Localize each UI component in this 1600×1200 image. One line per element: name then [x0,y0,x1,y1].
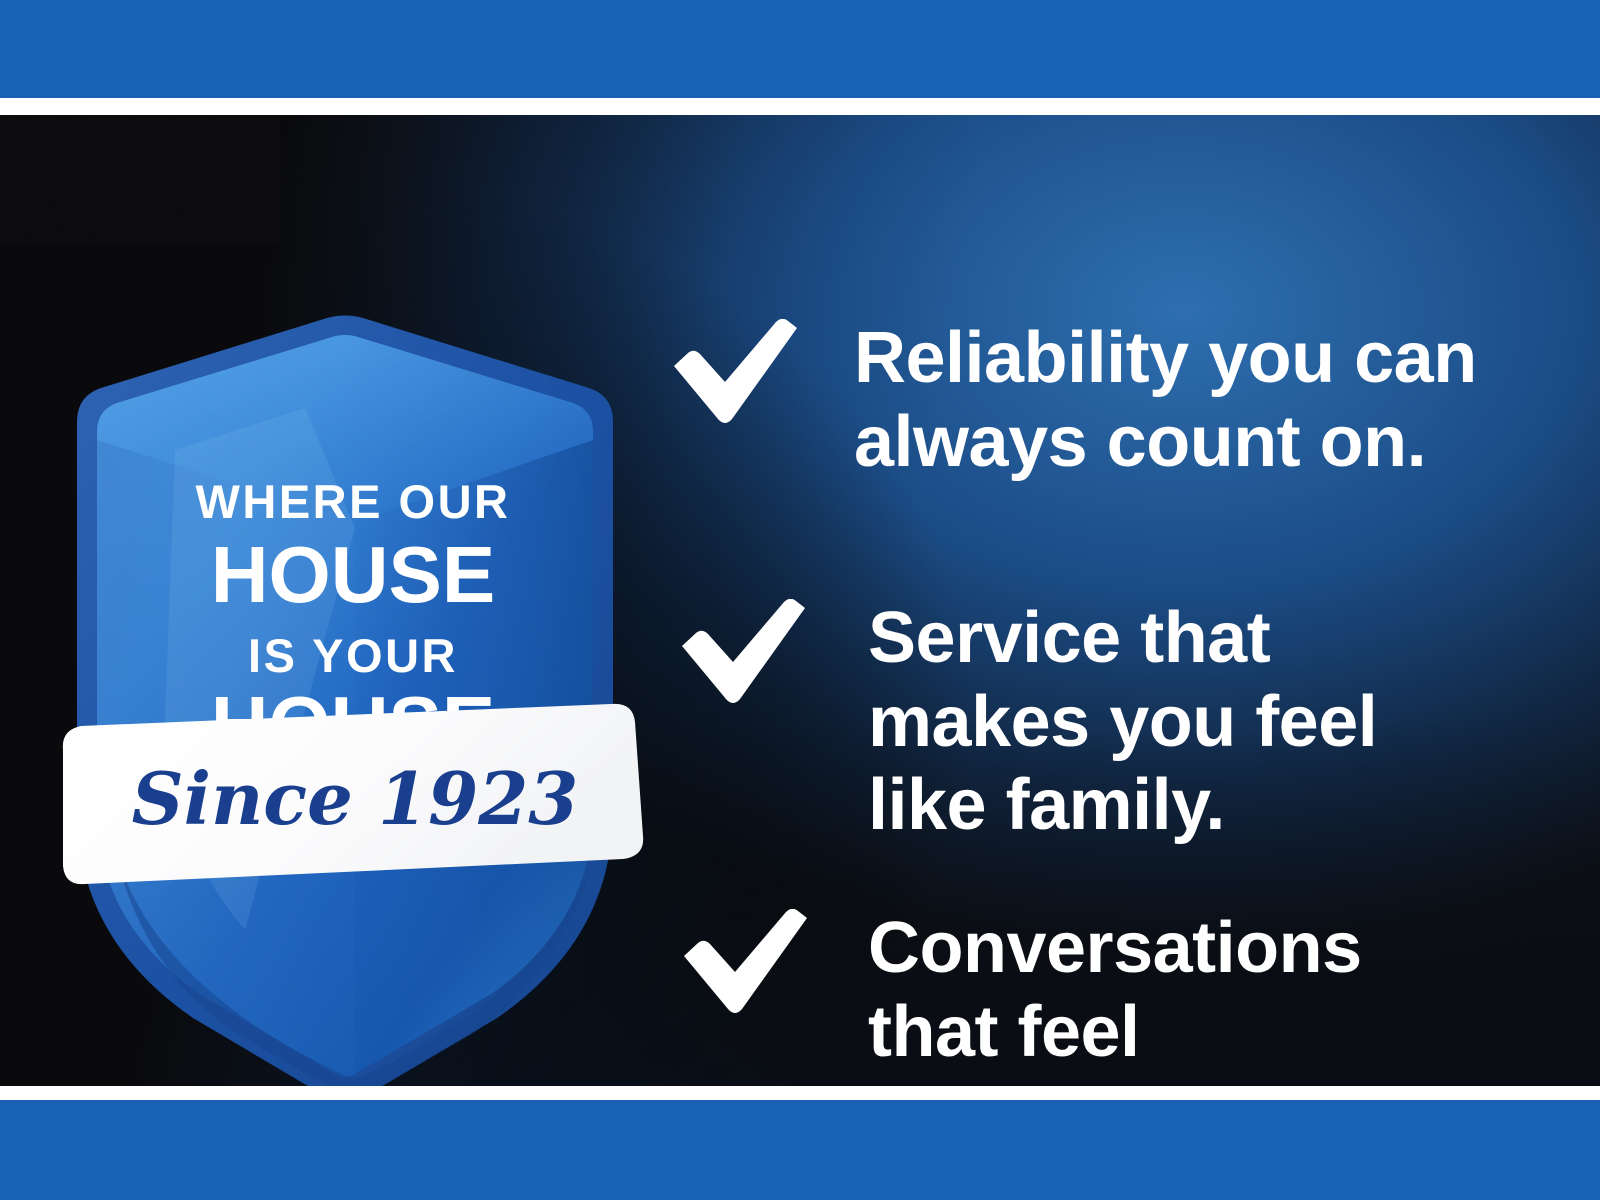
checkmark-icon [668,319,800,427]
since-banner: Since 1923 [63,704,643,884]
benefit-item: Service that makes you feel like family. [676,595,1377,848]
checkmark-icon [676,599,808,707]
benefit-item: Conversations that feel like home. [678,905,1362,1086]
badge-line-3: IS YOUR [248,629,458,682]
bottom-brand-bar [0,1100,1600,1200]
benefit-text: Service that makes you feel like family. [868,595,1377,848]
badge-line-2: HOUSE [211,530,496,619]
benefit-item: Reliability you can always count on. [668,315,1477,484]
banner-text: Since 1923 [132,756,579,841]
checkmark-icon [678,909,810,1017]
main-stage: WHERE OUR HOUSE IS YOUR HOUSE Since 1923 [0,115,1600,1086]
top-brand-bar [0,0,1600,98]
benefits-list: Reliability you can always count on. Ser… [668,295,1488,1086]
benefit-text: Reliability you can always count on. [854,315,1477,484]
shield-badge: WHERE OUR HOUSE IS YOUR HOUSE Since 1923 [55,290,635,1080]
marketing-graphic: WHERE OUR HOUSE IS YOUR HOUSE Since 1923 [0,0,1600,1200]
badge-line-1: WHERE OUR [196,475,511,528]
benefit-text: Conversations that feel like home. [868,905,1362,1086]
